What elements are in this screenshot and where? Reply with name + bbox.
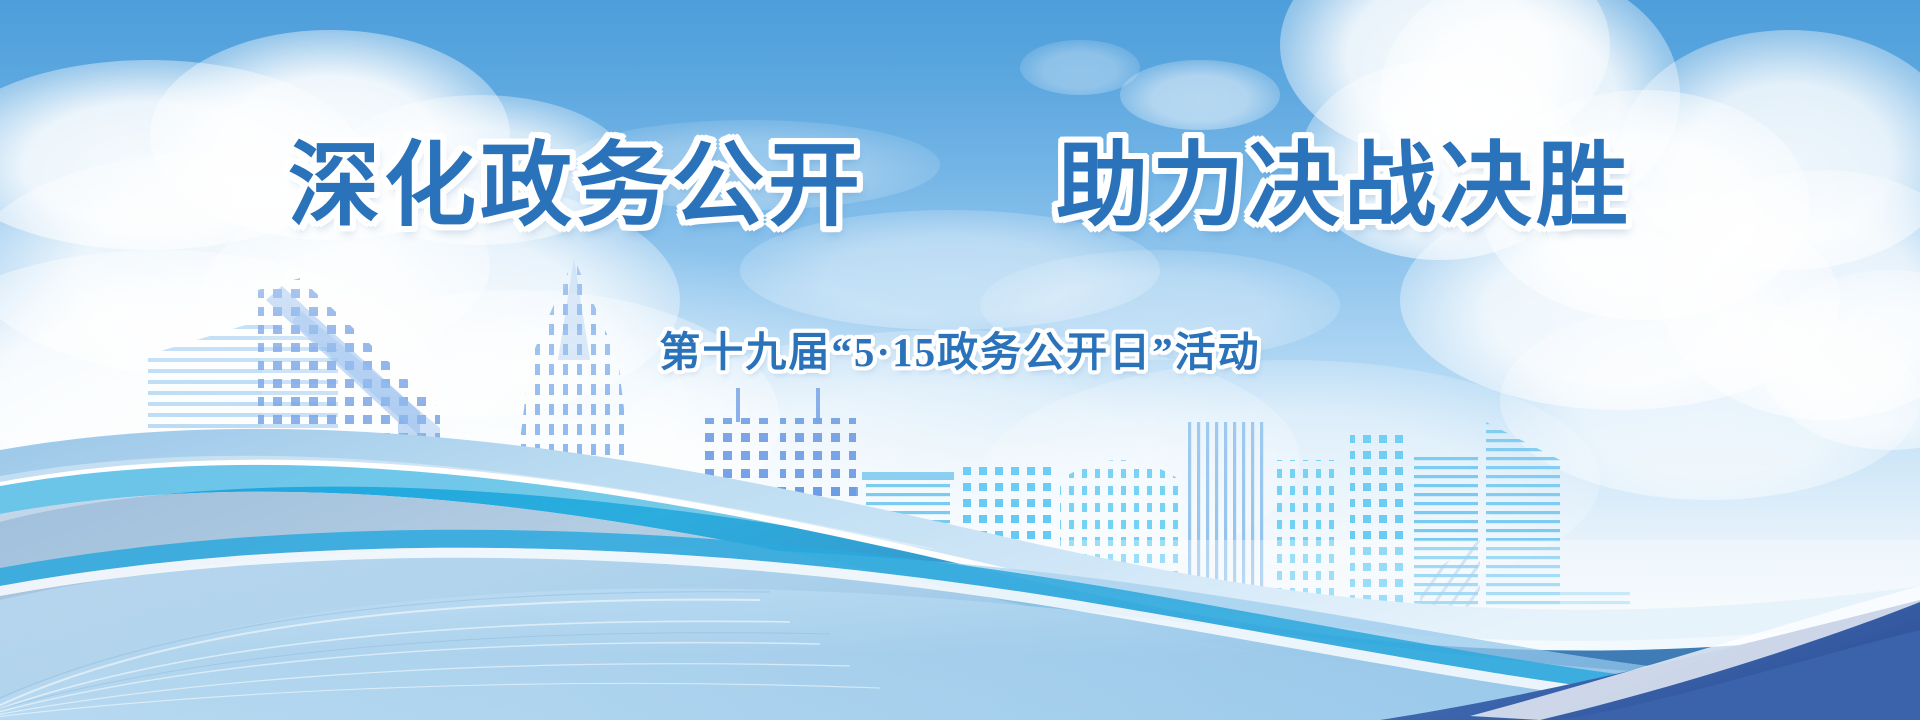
banner-canvas: 深化政务公开 助力决战决胜 第十九届“5·15政务公开日”活动 [0,0,1920,720]
blue-ribbon-waves [0,300,1920,720]
